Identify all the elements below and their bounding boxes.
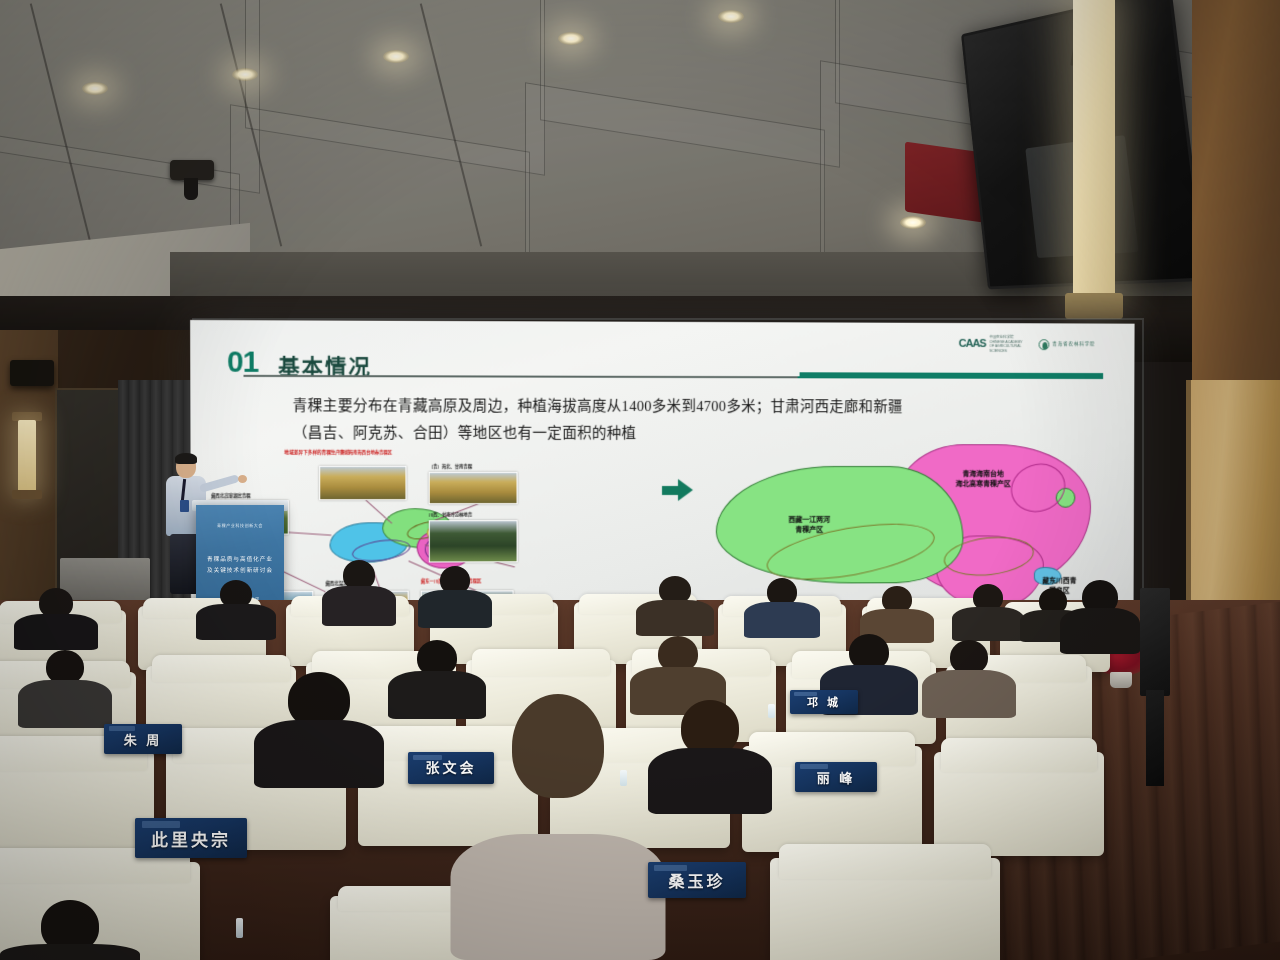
map-region-label-tibet: 西藏一江两河 青稞产区 [750,516,869,536]
audience-member [952,584,1024,634]
audience-member [254,672,384,776]
seat-name-text: 丽 峰 [817,768,856,787]
person-head [950,640,988,674]
audience-member [18,650,112,720]
person-shoulders [450,834,665,960]
presenter-hand [238,475,247,483]
audience-member [922,640,1016,710]
audience-member [196,580,276,634]
person-shoulders [0,944,140,960]
callout-label: 川西、甘南冷凉林地青 [429,512,518,518]
person-head [512,694,604,798]
map-label-line: 海北高寒青稞产区 [914,480,1052,490]
podium-header-text: 青稞产业科技创新大会 [196,523,284,529]
person-shoulders [1060,608,1140,654]
seat-name-placard: 此里央宗 [135,818,247,858]
chair [0,750,154,860]
seat-name-placard: 张文会 [408,752,494,784]
seat-name-text: 张文会 [426,758,477,778]
map-label-line: 西藏一江两河 [750,516,869,526]
chair [934,752,1104,856]
seat-name-placard: 邛 城 [790,690,858,714]
audience-member [636,576,714,628]
caas-logo: CAAS 中国农业科学院 CHINESE ACADEMY OF AGRICULT… [959,335,1025,354]
conference-room-photo: CAAS 中国农业科学院 CHINESE ACADEMY OF AGRICULT… [0,0,1280,960]
academy-logo-emblem-icon [1039,339,1050,350]
person-shoulders [648,748,772,814]
academy-logo-text: 青海省农林科学院 [1052,342,1095,348]
seat-name-text: 朱 周 [124,730,163,749]
presenter-badge [180,500,189,512]
callout-photo [319,466,406,500]
ceiling-downlight [82,82,108,95]
person-shoulders [952,607,1024,641]
seat-name-placard: 朱 周 [104,724,182,754]
audience-member [418,566,492,620]
seat-name-text: 桑玉珍 [668,868,725,892]
person-shoulders [636,600,714,636]
person-shoulders [322,586,396,626]
water-bottle [236,918,243,938]
floor-speaker [1140,588,1170,696]
map-label-line: 青海海南台地 [914,470,1052,480]
sconce-cap-icon [12,490,42,499]
callout-label: （青）海南海西台地春青稞区 [319,450,408,456]
person-shoulders [922,670,1016,718]
person-head [46,650,84,684]
audience-member [860,586,934,636]
podium-main-line-1: 青稞品质与高值化产业 [196,555,284,566]
caas-logo-subtitle: 中国农业科学院 CHINESE ACADEMY OF AGRICULTURAL … [989,335,1024,354]
ceiling-downlight [718,10,744,23]
seat-name-text: 邛 城 [807,694,841,710]
slide-body-line-1: 青稞主要分布在青藏高原及周边，种植海拔高度从1400多米到4700多米；甘肃河西… [293,393,1082,421]
plant-pot [1110,672,1132,688]
caas-logo-mark: CAAS [959,338,986,350]
presenter-hair [175,453,197,464]
podium-main-line-2: 及关键技术创新研讨会 [196,566,284,577]
callout-photo [429,472,518,504]
audience-member [14,588,98,642]
audience-member [744,578,820,630]
audience-member [0,900,140,960]
right-arrow-icon [678,479,693,501]
wall-sconce-right [1073,0,1115,296]
water-bottle [768,704,775,718]
audience-member [648,700,772,804]
water-bottle [620,770,627,786]
map-label-line: 青稞产区 [750,526,869,536]
callout-label: （青）海北、甘南青稞 [429,464,518,470]
map-region-label-qinghai: 青海海南台地 海北高寒青稞产区 [914,470,1052,490]
ceiling-downlight [232,68,258,81]
wall-sconce-base [1065,293,1123,319]
wall-speaker [10,360,54,386]
audience-member [322,560,396,618]
person-shoulders [196,604,276,640]
person-shoulders [744,602,820,638]
seat-name-placard: 丽 峰 [795,762,877,792]
floor-speaker-stand [1146,690,1164,786]
academy-logo: 青海省农林科学院 [1039,339,1096,350]
seat-name-placard: 桑玉珍 [648,862,746,898]
ceiling-downlight [900,216,926,229]
slide-logos: CAAS 中国农业科学院 CHINESE ACADEMY OF AGRICULT… [959,335,1096,354]
ceiling-projector-icon [170,160,214,180]
chair [770,858,1000,960]
audience-member [1060,580,1140,650]
ceiling-downlight [383,50,409,63]
person-shoulders [418,590,492,628]
header-rule-accent [800,372,1104,378]
callout-photo [429,520,518,562]
person-shoulders [14,614,98,650]
person-shoulders [18,680,112,728]
person-shoulders [254,720,384,788]
callout-label: 藏西北高寒湖盆青稞 [211,493,289,499]
ceiling-downlight [558,32,584,45]
seat-name-text: 此里央宗 [151,826,231,851]
audience-member-foreground [450,694,665,960]
podium-main-text: 青稞品质与高值化产业 及关键技术创新研讨会 [196,555,284,576]
wall-sconce-left [18,420,36,492]
